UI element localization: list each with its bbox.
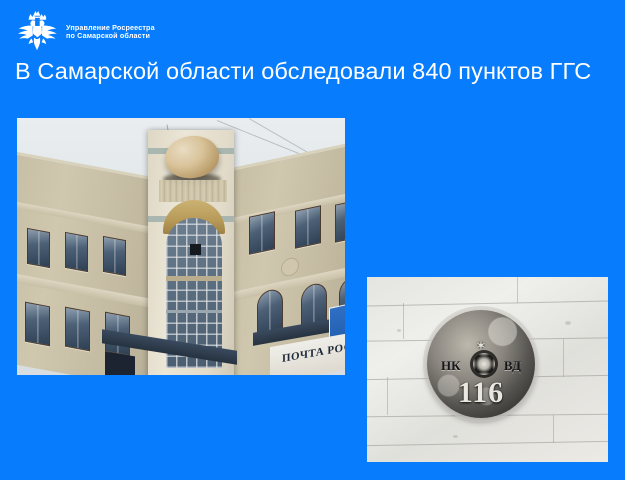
wall-speck [453, 435, 458, 438]
rosreestr-eagle-icon [14, 9, 60, 55]
window [65, 232, 88, 272]
marker-left-text: НК [441, 358, 461, 374]
post-office-sign-text: ПОЧТА РОСС [282, 339, 345, 365]
brick-joint [403, 303, 404, 339]
marker-center-point [473, 353, 495, 375]
marker-arc-char: Р [534, 314, 535, 325]
window [25, 302, 50, 347]
stucco-ornament [159, 180, 227, 202]
open-window-pane [190, 244, 201, 255]
logo-text-block: Управление Росреестра по Самарской облас… [66, 24, 155, 41]
window [249, 211, 275, 255]
window [65, 307, 90, 352]
building-photo-content: ПОЧТА РОСС [17, 118, 345, 375]
brick-joint [517, 277, 518, 303]
marker-number: 116 [427, 376, 535, 410]
window [27, 228, 50, 268]
benchmark-marker-disc: ТОЧНАЯ НИВЕЛИРОВКА ✶ НК ВД 116 [427, 310, 535, 418]
benchmark-photo-content: ТОЧНАЯ НИВЕЛИРОВКА ✶ НК ВД 116 [367, 277, 608, 462]
marker-arc-char: А [427, 313, 428, 325]
brick-joint [563, 339, 564, 377]
wall-speck [565, 321, 571, 325]
window-beam [166, 310, 222, 313]
slide-title: В Самарской области обследовали 840 пунк… [15, 58, 615, 85]
window [295, 205, 321, 249]
historic-building-facade-photo: ПОЧТА РОСС [17, 118, 345, 375]
brick-joint [387, 377, 388, 415]
brick-joint [553, 415, 554, 443]
entrance-doorway [105, 352, 135, 375]
marker-star-icon: ✶ [476, 338, 487, 354]
presentation-slide: Управление Росреестра по Самарской облас… [0, 0, 625, 480]
window [335, 199, 345, 243]
marker-right-text: ВД [504, 358, 521, 374]
organization-logo: Управление Росреестра по Самарской облас… [14, 9, 194, 55]
geodetic-benchmark-plate-photo: ТОЧНАЯ НИВЕЛИРОВКА ✶ НК ВД 116 [367, 277, 608, 462]
wall-speck [397, 329, 401, 332]
window-beam [166, 276, 222, 281]
window [103, 236, 126, 276]
logo-line-2: по Самарской области [66, 32, 155, 40]
